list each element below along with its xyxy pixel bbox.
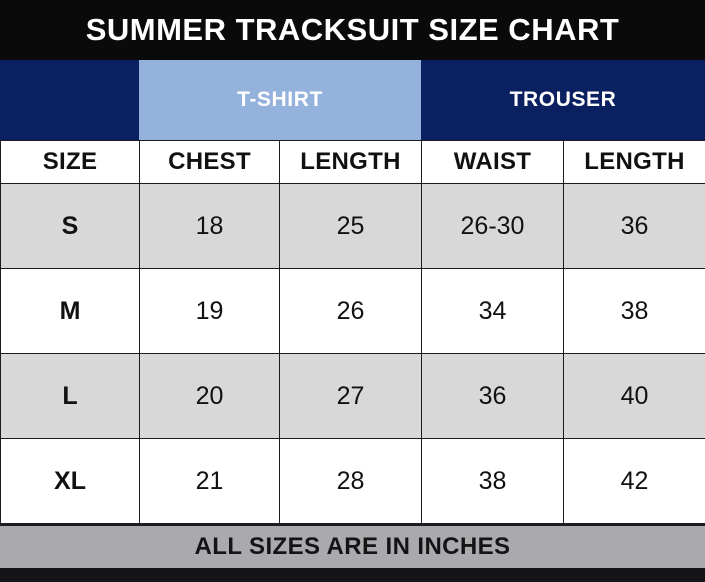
group-header-trouser: TROUSER: [421, 60, 705, 140]
table-row: S 18 25 26-30 36: [1, 184, 705, 269]
cell-size: M: [1, 269, 140, 354]
column-header-waist: WAIST: [422, 141, 564, 184]
cell-waist: 34: [422, 269, 564, 354]
footer-note: ALL SIZES ARE IN INCHES: [195, 533, 511, 561]
column-header-tshirt-length: LENGTH: [280, 141, 422, 184]
cell-waist: 26-30: [422, 184, 564, 269]
cell-waist: 38: [422, 439, 564, 524]
cell-tshirt-length: 26: [280, 269, 422, 354]
cell-tshirt-length: 27: [280, 354, 422, 439]
page-title: SUMMER TRACKSUIT SIZE CHART: [86, 12, 620, 48]
table-row: M 19 26 34 38: [1, 269, 705, 354]
chart-title-band: SUMMER TRACKSUIT SIZE CHART: [0, 0, 705, 60]
cell-size: S: [1, 184, 140, 269]
table-row: XL 21 28 38 42: [1, 439, 705, 524]
cell-size: XL: [1, 439, 140, 524]
cell-size: L: [1, 354, 140, 439]
group-header-trouser-label: TROUSER: [510, 88, 617, 112]
group-header-blank: [0, 60, 139, 140]
cell-trouser-length: 38: [564, 269, 705, 354]
table-row: L 20 27 36 40: [1, 354, 705, 439]
measurements-table: SIZE CHEST LENGTH WAIST LENGTH S 18 25 2…: [0, 140, 705, 524]
column-header-trouser-length: LENGTH: [564, 141, 705, 184]
cell-tshirt-length: 25: [280, 184, 422, 269]
group-header-row: T-SHIRT TROUSER: [0, 60, 705, 140]
cell-tshirt-length: 28: [280, 439, 422, 524]
cell-trouser-length: 36: [564, 184, 705, 269]
size-chart: SUMMER TRACKSUIT SIZE CHART T-SHIRT TROU…: [0, 0, 705, 570]
cell-chest: 18: [140, 184, 280, 269]
group-header-tshirt-label: T-SHIRT: [237, 88, 323, 112]
cell-waist: 36: [422, 354, 564, 439]
footer-note-band: ALL SIZES ARE IN INCHES: [0, 524, 705, 568]
column-header-size: SIZE: [1, 141, 140, 184]
cell-chest: 19: [140, 269, 280, 354]
column-header-chest: CHEST: [140, 141, 280, 184]
group-header-tshirt: T-SHIRT: [139, 60, 421, 140]
cell-trouser-length: 40: [564, 354, 705, 439]
cell-chest: 20: [140, 354, 280, 439]
bottom-strip: [0, 568, 705, 582]
column-header-row: SIZE CHEST LENGTH WAIST LENGTH: [1, 141, 705, 184]
cell-chest: 21: [140, 439, 280, 524]
cell-trouser-length: 42: [564, 439, 705, 524]
